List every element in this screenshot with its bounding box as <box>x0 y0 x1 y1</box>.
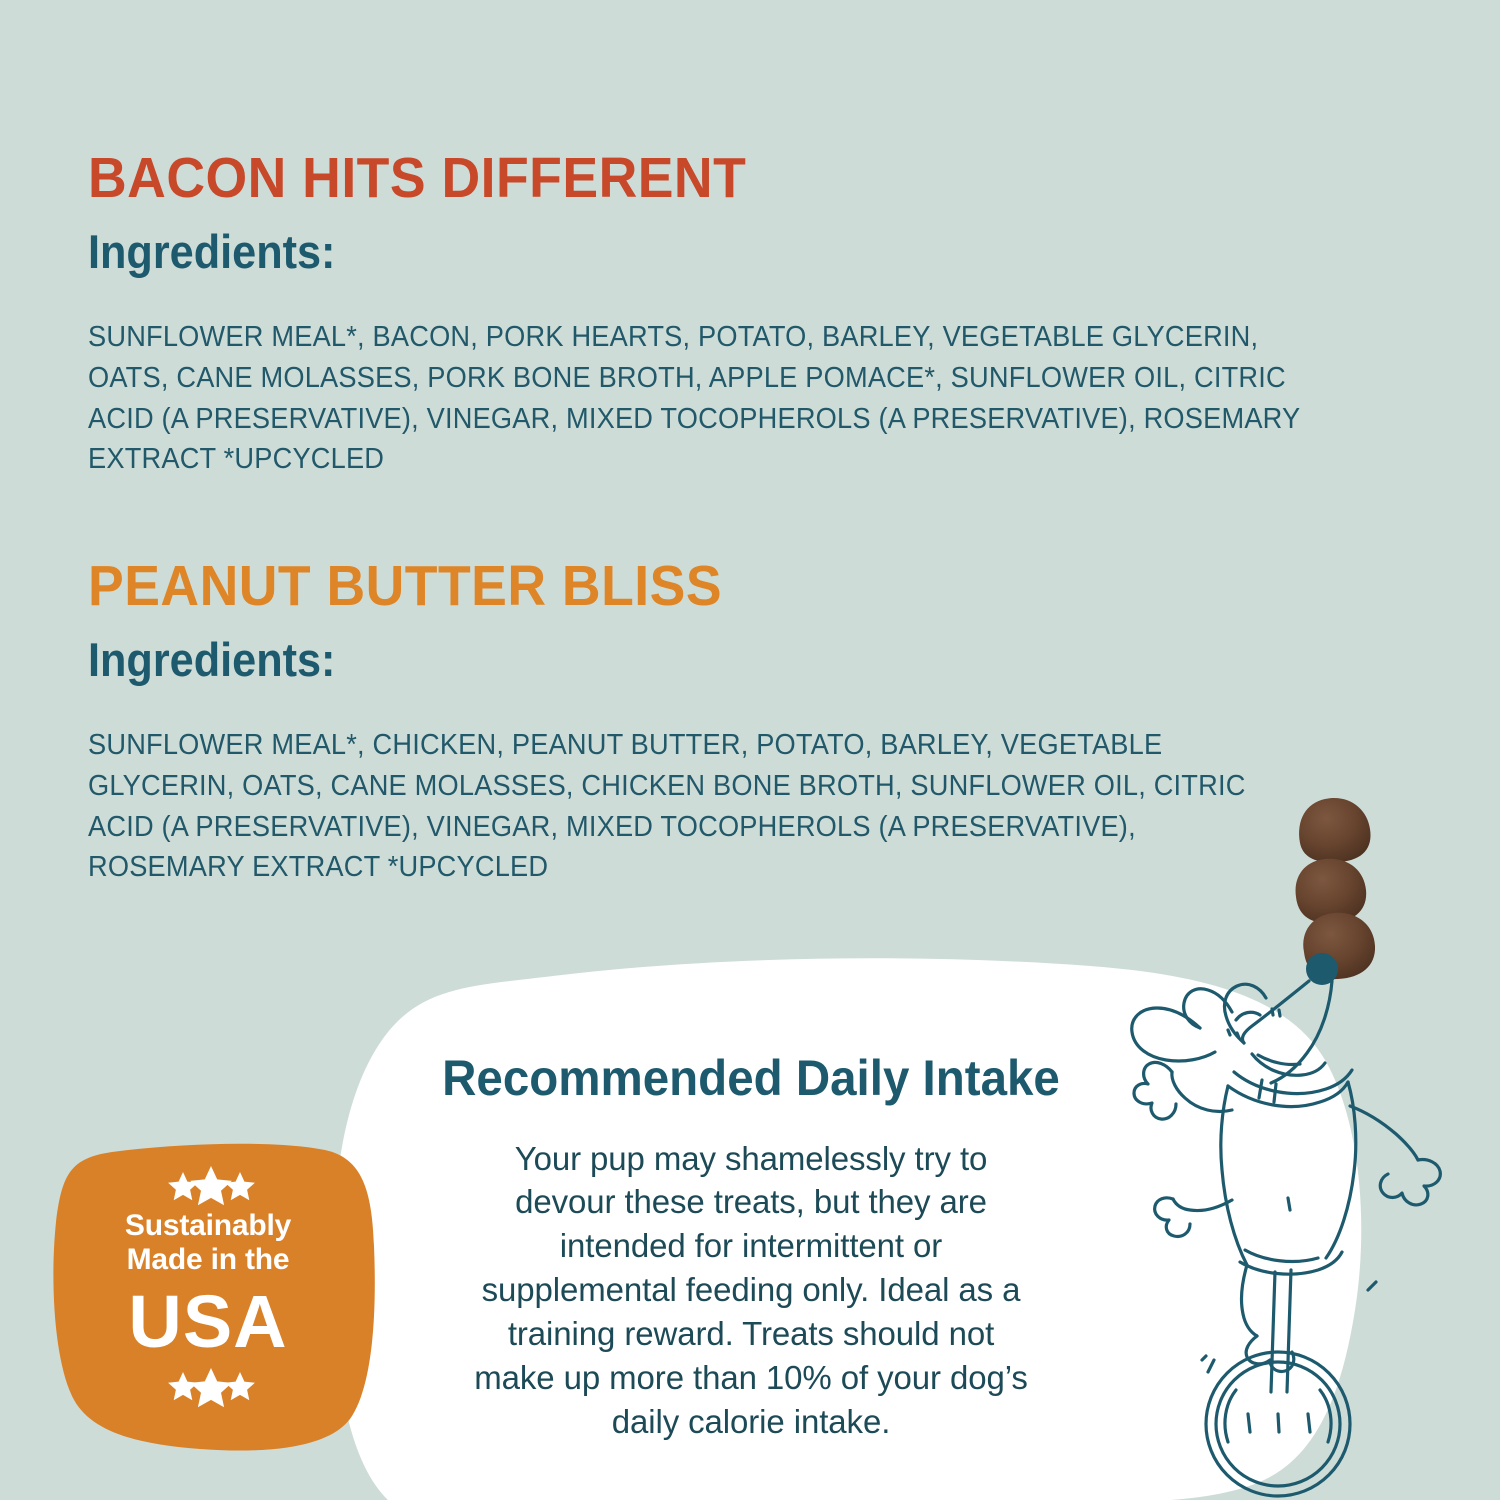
ingredients-label-peanut-butter: Ingredients: <box>88 633 1206 687</box>
ingredients-list-bacon: SUNFLOWER MEAL*, BACON, PORK HEARTS, POT… <box>88 317 1301 480</box>
flavor-section-peanut-butter: PEANUT BUTTER BLISS Ingredients: SUNFLOW… <box>88 558 1303 888</box>
ingredients-label-bacon: Ingredients: <box>88 225 1256 279</box>
ingredients-list-peanut-butter: SUNFLOWER MEAL*, CHICKEN, PEANUT BUTTER,… <box>88 725 1248 888</box>
flavor-title-bacon: BACON HITS DIFFERENT <box>88 150 1282 207</box>
flavor-title-peanut-butter: PEANUT BUTTER BLISS <box>88 558 1230 615</box>
intake-body-text: Your pup may shamelessly try to devour t… <box>466 1137 1036 1444</box>
product-detail-image: Sustainably Made in the USA BACON HITS D… <box>0 0 1500 1500</box>
recommended-daily-intake-card: Recommended Daily Intake Your pup may sh… <box>392 1052 1110 1444</box>
flavor-section-bacon: BACON HITS DIFFERENT Ingredients: SUNFLO… <box>88 150 1358 480</box>
intake-heading: Recommended Daily Intake <box>410 1052 1092 1105</box>
